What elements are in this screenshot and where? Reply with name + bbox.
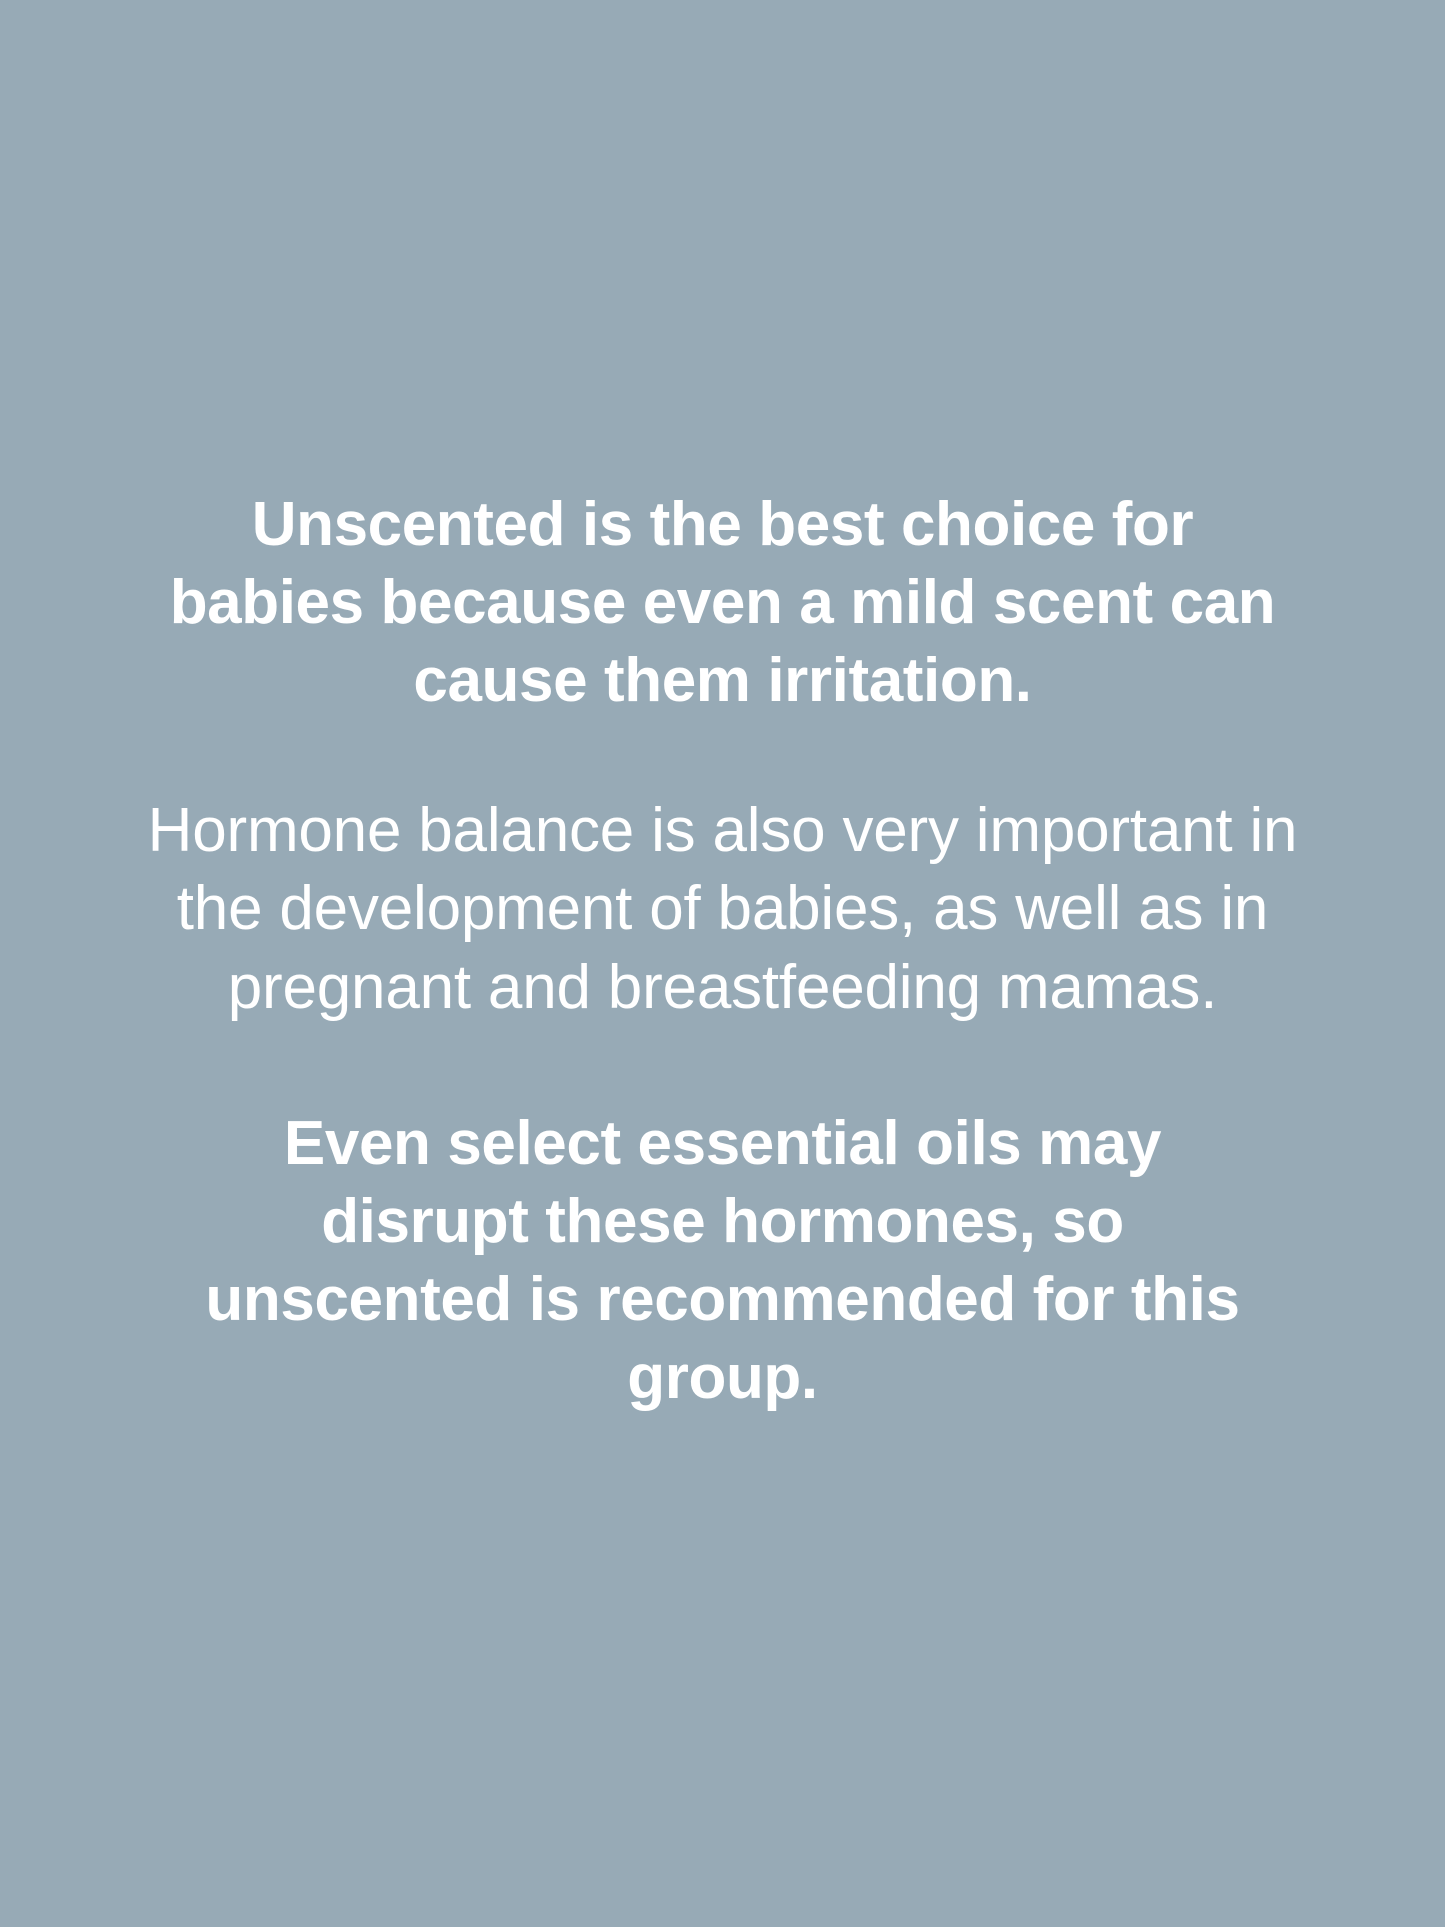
paragraph-essential-oils-disrupt: Even select essential oils may disrupt t…: [183, 1105, 1263, 1417]
text-stack: Unscented is the best choice for babies …: [0, 486, 1445, 1417]
text-card-canvas: Unscented is the best choice for babies …: [0, 0, 1445, 1927]
paragraph-hormone-balance: Hormone balance is also very important i…: [133, 792, 1313, 1026]
paragraph-spacer-2: [60, 1027, 1385, 1105]
paragraph-unscented-best-choice: Unscented is the best choice for babies …: [163, 486, 1283, 720]
paragraph-spacer-1: [60, 720, 1385, 792]
